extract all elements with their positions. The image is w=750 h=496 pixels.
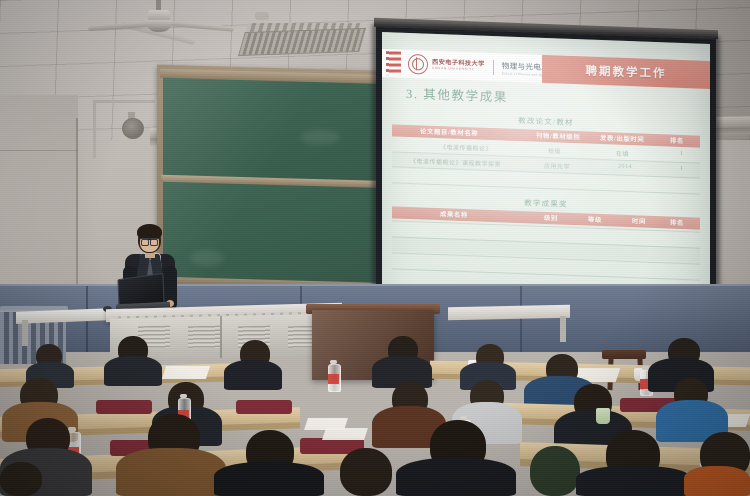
audience-body	[116, 448, 226, 496]
table1-col-2: 发表/出版时间	[600, 133, 644, 144]
wall-speaker-icon	[122, 118, 144, 139]
table1-col-1: 刊物/教材级别	[536, 131, 580, 142]
side-table-left-leg	[22, 320, 28, 346]
table1-col-3: 排名	[670, 136, 684, 146]
conduit-vertical	[93, 100, 96, 158]
audience-body	[576, 466, 692, 496]
table2-col-0: 成果名称	[440, 210, 468, 220]
table1-r0-c2: 在编	[616, 149, 629, 158]
audience-head	[530, 446, 580, 496]
wall-seam-horizontal	[0, 150, 78, 151]
table2-rule-4	[392, 268, 700, 280]
chalk-smudge	[190, 250, 224, 266]
chair-back	[236, 400, 292, 414]
table2-col-2: 等级	[588, 215, 602, 225]
audience-body	[396, 458, 516, 496]
slide-title-banner: 聘期教学工作	[542, 55, 710, 89]
audience-body	[684, 466, 750, 496]
wainscot-joint	[520, 286, 522, 352]
table2-col-3: 时间	[632, 217, 646, 227]
drink-cup-green	[596, 408, 610, 424]
table1-r1-c1: 应用光学	[544, 161, 570, 171]
lecture-hall-photo: 西安电子科技大学 XIDIAN UNIVERSITY 物理与光电工程学院 Sch…	[0, 0, 750, 496]
table1-r1-c3: 1	[680, 166, 684, 172]
smoke-detector-icon	[255, 12, 269, 20]
logo-divider	[493, 60, 494, 75]
table2-col-4: 排名	[670, 218, 684, 228]
podium-door-seam	[220, 316, 222, 358]
audience-body	[224, 360, 282, 390]
university-seal-icon	[408, 54, 428, 75]
audience-head	[340, 448, 392, 496]
slide-title-text: 聘期教学工作	[586, 62, 667, 81]
presenter-glasses-icon	[141, 238, 158, 244]
paper-sheet	[322, 428, 368, 440]
audience-body	[104, 356, 162, 386]
side-table-right-leg	[560, 316, 566, 342]
table2-col-1: 级别	[544, 213, 558, 223]
conduit-horizontal	[93, 100, 155, 103]
audience-head	[0, 462, 42, 496]
bottle-cap	[180, 394, 187, 398]
ceiling-vent	[238, 28, 366, 56]
projection-screen: 西安电子科技大学 XIDIAN UNIVERSITY 物理与光电工程学院 Sch…	[382, 32, 710, 322]
table1-r1-c2: 2014	[618, 164, 632, 171]
paper-sheet	[162, 366, 210, 379]
slide-section-heading: 3. 其他教学成果	[406, 83, 508, 106]
side-table-right	[448, 305, 570, 321]
table1-rule-3	[392, 182, 700, 194]
bottle-label	[328, 374, 339, 384]
table1-r0-c3: 1	[680, 151, 684, 157]
table1-col-0: 论文题目/教材名称	[420, 127, 478, 138]
slide-stripe-accent	[386, 51, 401, 76]
chalk-smudge	[300, 130, 340, 144]
chair-back	[96, 400, 152, 414]
podium-vent	[188, 326, 220, 349]
table1-r0-c1: 校级	[548, 146, 561, 155]
audience-body	[214, 462, 324, 496]
table1-r0-c0: 《电波传播概论》	[440, 142, 492, 153]
bottle-cap	[330, 360, 337, 364]
presentation-slide: 西安电子科技大学 XIDIAN UNIVERSITY 物理与光电工程学院 Sch…	[382, 32, 710, 322]
table1-r1-c0: 《电波传播概论》课程教学探索	[410, 156, 501, 168]
